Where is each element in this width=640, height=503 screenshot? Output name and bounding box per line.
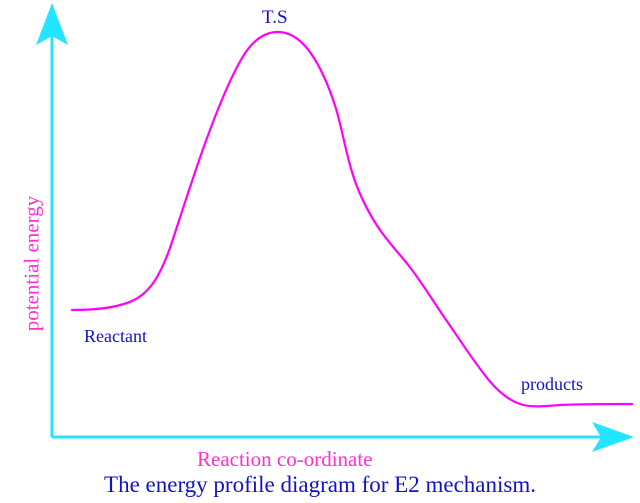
reactant-label: Reactant — [84, 327, 147, 345]
x-axis-label: Reaction co-ordinate — [197, 449, 373, 470]
figure-caption: The energy profile diagram for E2 mechan… — [0, 473, 640, 496]
diagram-canvas — [0, 0, 640, 503]
energy-profile-diagram: T.S Reactant products potential energy R… — [0, 0, 640, 503]
y-axis-label: potential energy — [22, 174, 43, 354]
reaction-energy-curve — [72, 32, 632, 406]
transition-state-label: T.S — [262, 8, 288, 27]
products-label: products — [521, 375, 583, 393]
